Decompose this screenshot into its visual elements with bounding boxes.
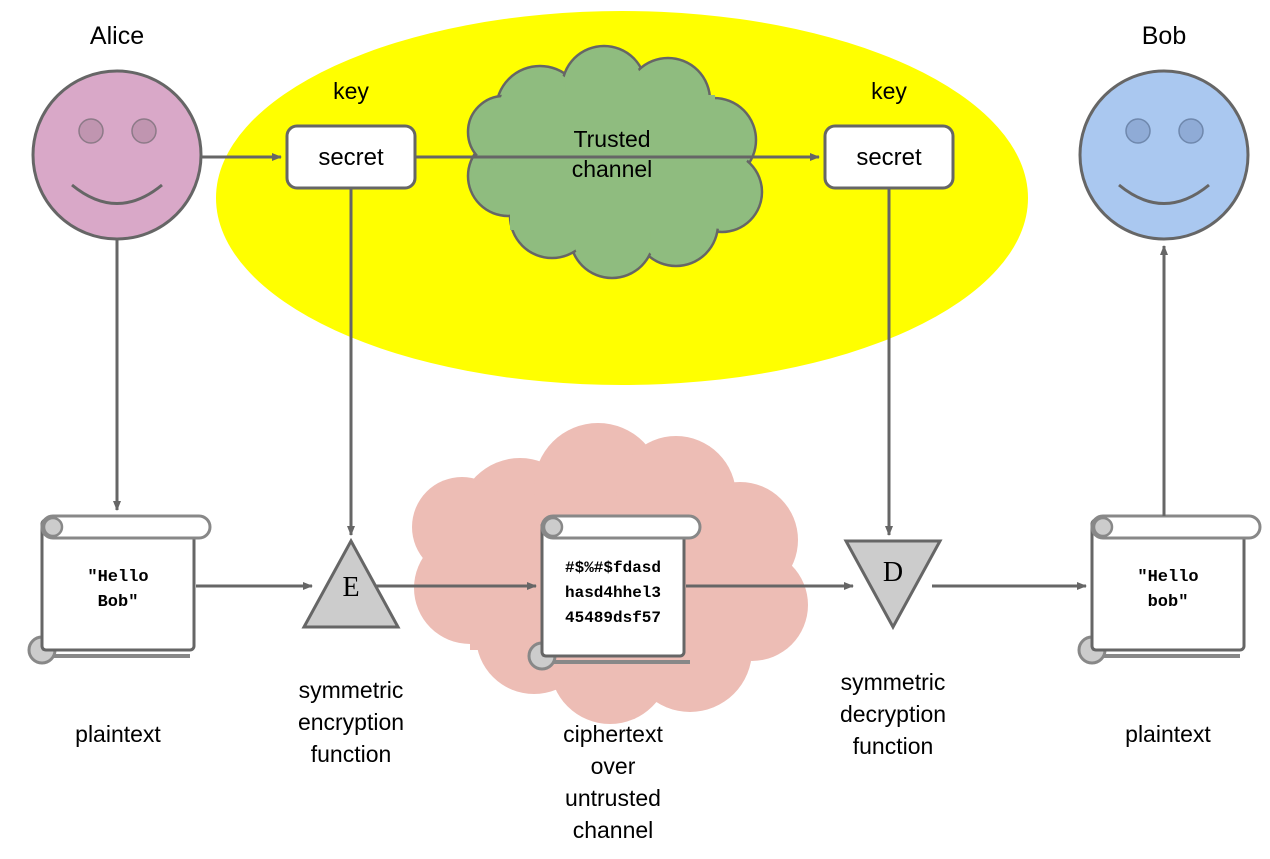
trusted-channel-label-line2: channel	[512, 157, 712, 183]
ciphertext-caption-line2: over	[533, 754, 693, 780]
key-label-right: key	[829, 79, 949, 105]
diagram-canvas: Alice Bob key key secret secret Trusted …	[0, 0, 1270, 859]
ciphertext-caption-line4: channel	[533, 818, 693, 844]
alice-label: Alice	[57, 22, 177, 50]
ciphertext-line2: hasd4hhel3	[542, 585, 684, 603]
ciphertext-line3: 45489dsf57	[542, 610, 684, 628]
encryption-caption-line1: symmetric	[271, 678, 431, 704]
encryption-caption-line2: encryption	[271, 710, 431, 736]
plaintext-left-line1: "Hello	[42, 568, 194, 587]
trusted-channel-label-line1: Trusted	[512, 127, 712, 153]
ciphertext-caption-line3: untrusted	[533, 786, 693, 812]
secret-key-text-left: secret	[287, 145, 415, 172]
encryption-caption-line3: function	[271, 742, 431, 768]
key-label-left: key	[291, 79, 411, 105]
encryption-function-glyph: E	[311, 572, 391, 603]
bob-avatar	[1080, 71, 1248, 239]
decryption-function-glyph: D	[853, 557, 933, 588]
plaintext-left-caption: plaintext	[38, 722, 198, 748]
plaintext-document-left	[29, 516, 210, 663]
secret-key-text-right: secret	[825, 145, 953, 172]
decryption-caption-line2: decryption	[813, 702, 973, 728]
decryption-caption-line3: function	[813, 734, 973, 760]
plaintext-right-caption: plaintext	[1088, 722, 1248, 748]
plaintext-right-line1: "Hello	[1092, 568, 1244, 587]
ciphertext-caption-line1: ciphertext	[533, 722, 693, 748]
bob-label: Bob	[1104, 22, 1224, 50]
plaintext-right-line2: bob"	[1092, 593, 1244, 612]
decryption-caption-line1: symmetric	[813, 670, 973, 696]
alice-avatar	[33, 71, 201, 239]
plaintext-document-right	[1079, 516, 1260, 663]
ciphertext-line1: #$%#$fdasd	[542, 560, 684, 578]
plaintext-left-line2: Bob"	[42, 593, 194, 612]
